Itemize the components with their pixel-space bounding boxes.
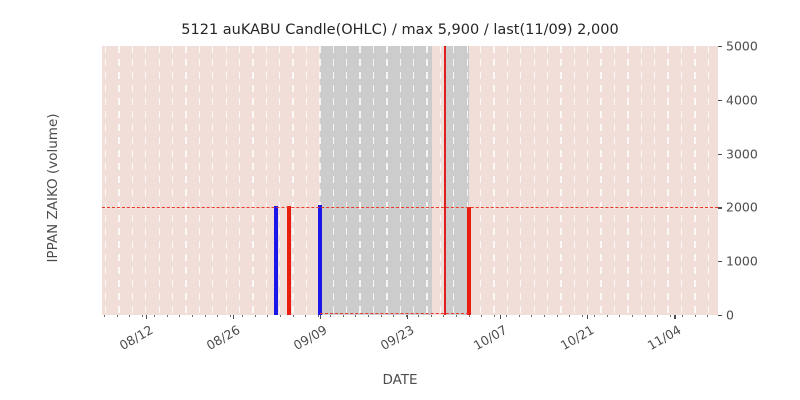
x-tick-minor bbox=[104, 315, 105, 317]
span-pink-right bbox=[469, 46, 718, 315]
x-tick-mark bbox=[407, 315, 408, 319]
x-tick-minor bbox=[506, 315, 507, 317]
y-tick-label: 4000 bbox=[726, 92, 758, 107]
volume-bar bbox=[318, 205, 322, 315]
x-tick-minor bbox=[519, 315, 520, 317]
x-tick-minor bbox=[443, 315, 444, 317]
y-tick-label: 5000 bbox=[726, 39, 758, 54]
event-marker-line bbox=[444, 46, 445, 315]
x-tick-label: 10/07 bbox=[462, 322, 509, 358]
x-tick-mark bbox=[233, 315, 234, 319]
x-tick-minor bbox=[293, 315, 294, 317]
span-pink-marker bbox=[432, 46, 444, 315]
volume-bar bbox=[467, 207, 471, 315]
zero-baseline-segment bbox=[320, 313, 469, 314]
x-tick-minor bbox=[154, 315, 155, 317]
x-tick-label: 09/23 bbox=[369, 322, 416, 358]
x-tick-minor bbox=[255, 315, 256, 317]
x-tick-minor bbox=[707, 315, 708, 317]
x-tick-minor bbox=[267, 315, 268, 317]
plot-area bbox=[102, 46, 718, 315]
x-tick-minor bbox=[192, 315, 193, 317]
span-gray-right bbox=[444, 46, 469, 315]
x-tick-minor bbox=[381, 315, 382, 317]
span-gray-mid bbox=[320, 46, 432, 315]
y-tick-label: 3000 bbox=[726, 146, 758, 161]
x-tick-minor bbox=[557, 315, 558, 317]
x-tick-minor bbox=[645, 315, 646, 317]
x-tick-minor bbox=[280, 315, 281, 317]
x-tick-minor bbox=[318, 315, 319, 317]
x-tick-minor bbox=[355, 315, 356, 317]
x-tick-minor bbox=[531, 315, 532, 317]
y-axis-title: IPPAN ZAIKO (volume) bbox=[45, 73, 61, 303]
x-tick-minor bbox=[167, 315, 168, 317]
chart-title: 5121 auKABU Candle(OHLC) / max 5,900 / l… bbox=[0, 22, 800, 38]
y-tick-label: 2000 bbox=[726, 200, 758, 215]
x-tick-minor bbox=[343, 315, 344, 317]
y-tick-mark bbox=[718, 207, 722, 208]
x-tick-minor bbox=[418, 315, 419, 317]
x-tick-minor bbox=[117, 315, 118, 317]
x-tick-minor bbox=[582, 315, 583, 317]
x-tick-minor bbox=[205, 315, 206, 317]
x-tick-minor bbox=[179, 315, 180, 317]
x-tick-label: 08/12 bbox=[108, 322, 155, 358]
y-tick-label: 0 bbox=[726, 308, 734, 323]
x-tick-minor bbox=[305, 315, 306, 317]
x-tick-minor bbox=[594, 315, 595, 317]
x-tick-minor bbox=[469, 315, 470, 317]
volume-bar bbox=[274, 206, 278, 315]
x-tick-label: 08/26 bbox=[195, 322, 242, 358]
x-tick-minor bbox=[494, 315, 495, 317]
x-tick-label: 09/09 bbox=[282, 322, 329, 358]
x-tick-minor bbox=[393, 315, 394, 317]
x-tick-label: 10/21 bbox=[549, 322, 596, 358]
x-tick-minor bbox=[619, 315, 620, 317]
x-tick-minor bbox=[368, 315, 369, 317]
x-tick-minor bbox=[330, 315, 331, 317]
x-tick-minor bbox=[242, 315, 243, 317]
x-tick-mark bbox=[146, 315, 147, 319]
x-tick-minor bbox=[607, 315, 608, 317]
x-tick-minor bbox=[682, 315, 683, 317]
y-tick-mark bbox=[718, 154, 722, 155]
x-tick-minor bbox=[431, 315, 432, 317]
y-tick-mark bbox=[718, 261, 722, 262]
chart-figure: 5121 auKABU Candle(OHLC) / max 5,900 / l… bbox=[0, 0, 800, 400]
y-tick-mark bbox=[718, 100, 722, 101]
x-tick-minor bbox=[142, 315, 143, 317]
x-axis-title: DATE bbox=[0, 372, 800, 388]
x-tick-minor bbox=[695, 315, 696, 317]
x-tick-minor bbox=[657, 315, 658, 317]
x-tick-mark bbox=[674, 315, 675, 319]
y-tick-mark bbox=[718, 315, 722, 316]
x-tick-minor bbox=[632, 315, 633, 317]
y-tick-label: 1000 bbox=[726, 254, 758, 269]
x-tick-minor bbox=[569, 315, 570, 317]
x-tick-minor bbox=[230, 315, 231, 317]
x-tick-minor bbox=[544, 315, 545, 317]
x-tick-minor bbox=[406, 315, 407, 317]
x-tick-mark bbox=[500, 315, 501, 319]
y-tick-mark bbox=[718, 46, 722, 47]
x-tick-minor bbox=[670, 315, 671, 317]
x-tick-minor bbox=[481, 315, 482, 317]
volume-bar bbox=[287, 206, 291, 315]
x-tick-minor bbox=[217, 315, 218, 317]
x-tick-mark bbox=[587, 315, 588, 319]
x-tick-minor bbox=[456, 315, 457, 317]
x-tick-label: 11/04 bbox=[637, 322, 684, 358]
x-tick-minor bbox=[129, 315, 130, 317]
last-value-line bbox=[102, 207, 718, 208]
x-tick-mark bbox=[320, 315, 321, 319]
